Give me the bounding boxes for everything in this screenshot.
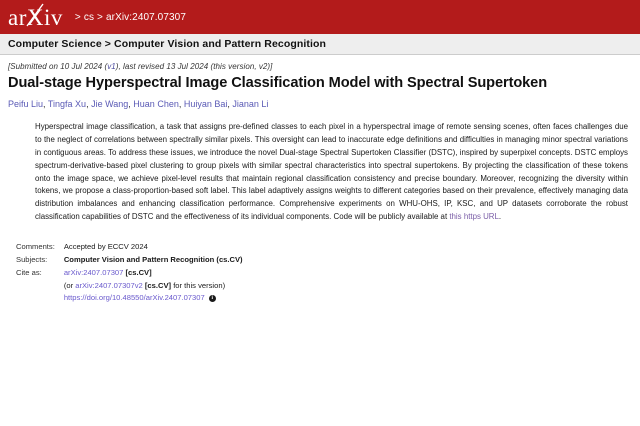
- breadcrumb-sep-2: >: [97, 12, 103, 23]
- abstract: Hyperspectral image classification, a ta…: [35, 121, 628, 223]
- author-link[interactable]: Huan Chen: [133, 99, 179, 109]
- submission-dateline: [Submitted on 10 Jul 2024 (v1), last rev…: [8, 62, 630, 71]
- table-row: Comments: Accepted by ECCV 2024: [16, 241, 243, 254]
- cite-version-category: [cs.CV]: [145, 281, 171, 290]
- abstract-suffix: .: [499, 212, 501, 221]
- doi-link[interactable]: https://doi.org/10.48550/arXiv.2407.0730…: [64, 293, 205, 302]
- cite-primary-category: [cs.CV]: [125, 268, 151, 277]
- paper-content: [Submitted on 10 Jul 2024 (v1), last rev…: [0, 55, 640, 305]
- cite-version-suffix: for this version): [171, 281, 225, 290]
- cite-version-link[interactable]: arXiv:2407.07307v2: [75, 281, 143, 290]
- site-header: arXiv >cs>arXiv:2407.07307: [0, 0, 640, 34]
- cite-doi-line: https://doi.org/10.48550/arXiv.2407.0730…: [64, 292, 243, 304]
- cite-primary-line: arXiv:2407.07307 [cs.CV]: [64, 267, 243, 279]
- subjects-label: Subjects:: [16, 254, 64, 267]
- breadcrumb-identifier-link[interactable]: arXiv:2407.07307: [106, 12, 186, 23]
- abstract-code-link[interactable]: this https URL: [449, 212, 499, 221]
- cite-as-value: arXiv:2407.07307 [cs.CV] (or arXiv:2407.…: [64, 267, 243, 305]
- dateline-prefix: [Submitted on 10 Jul 2024 (: [8, 62, 107, 71]
- subjects-value: Computer Vision and Pattern Recognition …: [64, 254, 243, 267]
- breadcrumb: >cs>arXiv:2407.07307: [72, 12, 186, 23]
- table-row: Subjects: Computer Vision and Pattern Re…: [16, 254, 243, 267]
- breadcrumb-sep-1: >: [75, 12, 81, 23]
- info-icon[interactable]: i: [209, 295, 216, 302]
- author-link[interactable]: Tingfa Xu: [48, 99, 86, 109]
- arxiv-logo-x: X: [27, 6, 44, 29]
- arxiv-logo-slash-icon: [25, 2, 45, 28]
- cite-version-line: (or arXiv:2407.07307v2 [cs.CV] for this …: [64, 280, 243, 292]
- comments-label: Comments:: [16, 241, 64, 254]
- author-list: Peifu Liu, Tingfa Xu, Jie Wang, Huan Che…: [8, 99, 630, 111]
- subject-bar: Computer Science > Computer Vision and P…: [0, 34, 640, 55]
- arxiv-logo[interactable]: arXiv: [8, 6, 65, 29]
- dateline-v1-link[interactable]: v1: [107, 62, 116, 71]
- metadata-table: Comments: Accepted by ECCV 2024 Subjects…: [16, 241, 243, 305]
- dateline-middle: ), last revised 13 Jul 2024 (this versio…: [116, 62, 273, 71]
- cite-as-label: Cite as:: [16, 267, 64, 305]
- author-link[interactable]: Huiyan Bai: [184, 99, 228, 109]
- cite-arxiv-link[interactable]: arXiv:2407.07307: [64, 268, 124, 277]
- author-link[interactable]: Jianan Li: [232, 99, 268, 109]
- comments-value: Accepted by ECCV 2024: [64, 241, 243, 254]
- breadcrumb-archive-link[interactable]: cs: [84, 12, 94, 23]
- page-title: Dual-stage Hyperspectral Image Classific…: [8, 75, 630, 92]
- cite-version-prefix: (or: [64, 281, 75, 290]
- author-link[interactable]: Jie Wang: [91, 99, 128, 109]
- author-link[interactable]: Peifu Liu: [8, 99, 43, 109]
- abstract-text: Hyperspectral image classification, a ta…: [35, 122, 628, 221]
- table-row: Cite as: arXiv:2407.07307 [cs.CV] (or ar…: [16, 267, 243, 305]
